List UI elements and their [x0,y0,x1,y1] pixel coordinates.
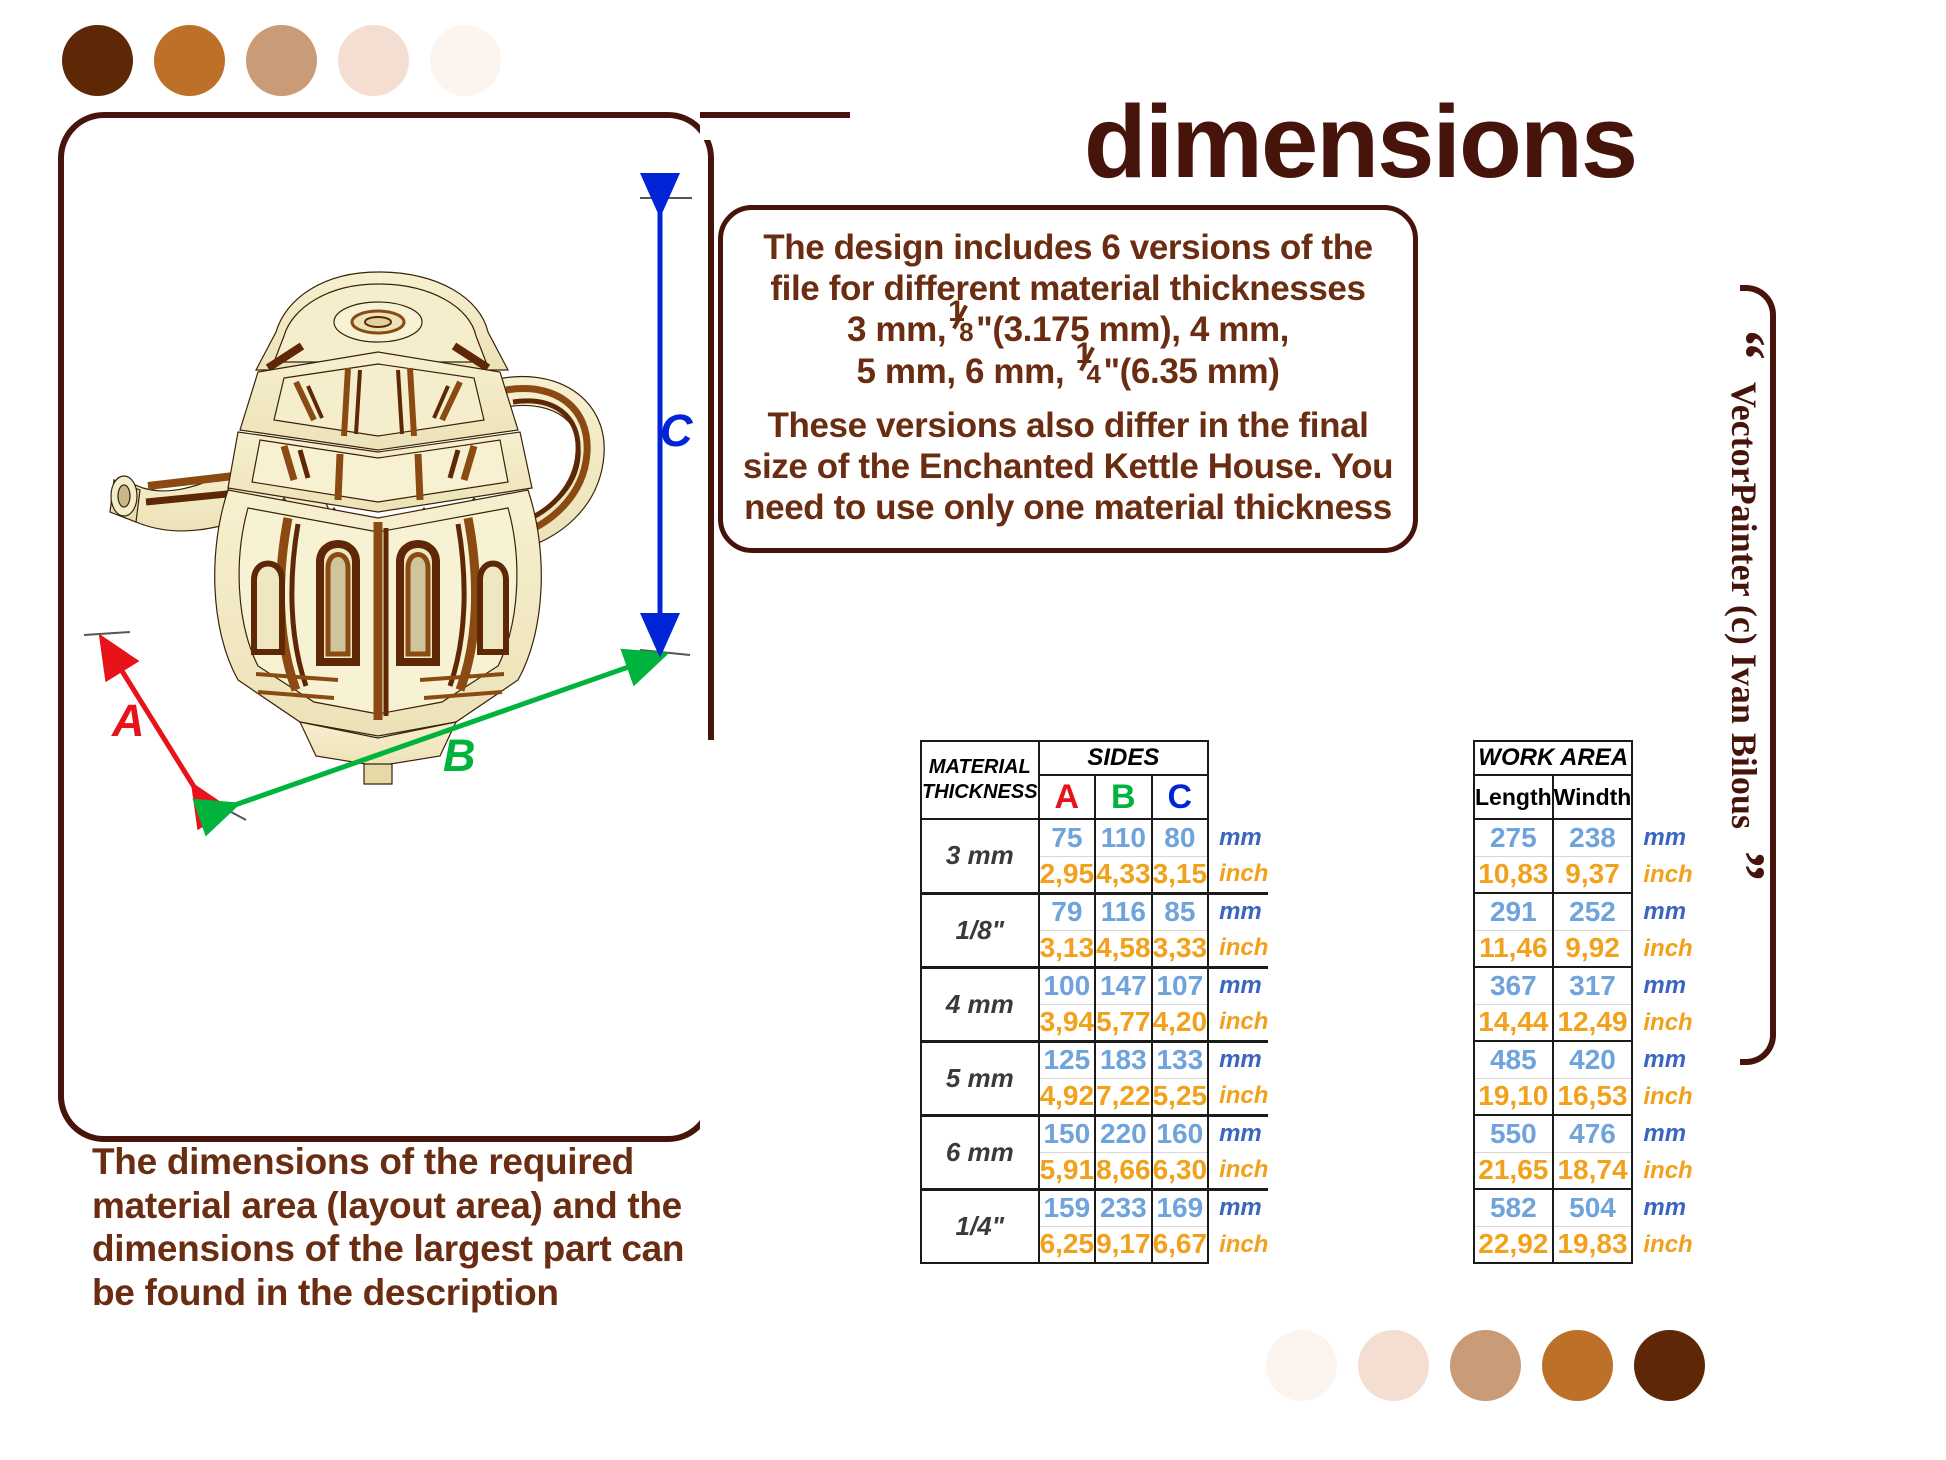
cell-side-inch: 4,58 [1095,930,1152,967]
info-box: The design includes 6 versions of the fi… [718,205,1418,553]
cell-work-inch: 21,65 [1474,1152,1553,1189]
unit-label-inch: inch [1632,1078,1693,1115]
unit-label-mm: mm [1208,967,1268,1004]
cell-side-inch: 5,77 [1095,1004,1152,1041]
unit-label-mm: mm [1632,819,1693,856]
fraction-one-eighth: 18 [946,309,976,343]
work-area-table: WORK AREA Length Windth 275238mm10,839,3… [1473,740,1695,1264]
table-row: 14,4412,49inch [1474,1004,1694,1041]
cell-work-inch: 18,74 [1553,1152,1633,1189]
cell-side-inch: 6,25 [1039,1226,1096,1263]
header-side-b: B [1095,775,1152,819]
cell-work-mm: 291 [1474,893,1553,930]
unit-label-mm: mm [1632,1115,1693,1152]
cell-side-inch: 6,30 [1152,1152,1209,1189]
table-row: 291252mm [1474,893,1694,930]
info-paragraph-sizes: These versions also differ in the final … [737,406,1399,528]
page-title: dimensions [930,90,1790,193]
header-sides: SIDES [1039,741,1209,775]
table-row: 5 mm125183133mm [921,1041,1268,1078]
table-row: 4 mm100147107mm [921,967,1268,1004]
color-swatch [154,25,225,96]
unit-label-inch: inch [1208,1152,1268,1189]
unit-label-mm: mm [1632,967,1693,1004]
color-swatch [246,25,317,96]
dimension-label-a: A [112,695,145,747]
cell-side-mm: 220 [1095,1115,1152,1152]
cell-work-mm: 252 [1553,893,1633,930]
palette-swatches-bottom [1266,1330,1705,1401]
cell-side-mm: 79 [1039,893,1096,930]
color-swatch [338,25,409,96]
cell-side-inch: 4,92 [1039,1078,1096,1115]
cell-side-inch: 8,66 [1095,1152,1152,1189]
cell-work-mm: 582 [1474,1189,1553,1226]
cell-work-mm: 238 [1553,819,1633,856]
color-swatch [1450,1330,1521,1401]
cell-side-inch: 3,13 [1039,930,1096,967]
copyright-text: VectorPainter (c) Ivan Bilous [1723,382,1765,829]
unit-label-inch: inch [1208,856,1268,893]
quote-open-icon: “ [1726,330,1762,360]
info-line-6: size of the Enchanted Kettle House. You [737,447,1399,488]
header-material-line1: MATERIAL [922,755,1038,780]
cell-work-inch: 12,49 [1553,1004,1633,1041]
table-row: 550476mm [1474,1115,1694,1152]
cell-work-inch: 9,37 [1553,856,1633,893]
fraction-denominator: 4 [1086,359,1100,389]
cell-material-thickness: 5 mm [921,1041,1039,1115]
unit-label-mm: mm [1208,893,1268,930]
frame-gap-right [700,740,730,1142]
cell-side-inch: 2,95 [1039,856,1096,893]
cell-side-inch: 3,33 [1152,930,1209,967]
table-row: 582504mm [1474,1189,1694,1226]
table-row: 10,839,37inch [1474,856,1694,893]
color-swatch [1542,1330,1613,1401]
header-length: Length [1474,775,1553,819]
color-swatch [1358,1330,1429,1401]
cell-side-inch: 5,91 [1039,1152,1096,1189]
info-line-7: need to use only one material thickness [737,488,1399,529]
info-line-4-suffix: "(6.35 mm) [1103,352,1279,391]
cell-work-mm: 420 [1553,1041,1633,1078]
cell-work-mm: 367 [1474,967,1553,1004]
table-row: 1/8"7911685mm [921,893,1268,930]
unit-label-mm: mm [1632,1041,1693,1078]
header-material-line2: THICKNESS [922,780,1038,805]
table-row: 21,6518,74inch [1474,1152,1694,1189]
cell-side-mm: 116 [1095,893,1152,930]
unit-label-inch: inch [1632,856,1693,893]
unit-label-inch: inch [1208,1078,1268,1115]
table-row: 275238mm [1474,819,1694,856]
table-row: 1/4"159233169mm [921,1189,1268,1226]
cell-work-inch: 22,92 [1474,1226,1553,1263]
palette-swatches-top [62,25,501,96]
color-swatch [62,25,133,96]
table-row: 11,469,92inch [1474,930,1694,967]
kettle-house-illustration [88,250,668,810]
cell-work-inch: 9,92 [1553,930,1633,967]
cell-side-inch: 9,17 [1095,1226,1152,1263]
cell-work-mm: 550 [1474,1115,1553,1152]
cell-side-mm: 107 [1152,967,1209,1004]
unit-label-inch: inch [1208,1226,1268,1263]
cell-work-inch: 14,44 [1474,1004,1553,1041]
table-row: 22,9219,83inch [1474,1226,1694,1263]
info-line-5: These versions also differ in the final [737,406,1399,447]
cell-material-thickness: 1/4" [921,1189,1039,1263]
cell-side-mm: 125 [1039,1041,1096,1078]
unit-label-mm: mm [1632,893,1693,930]
unit-label-inch: inch [1208,930,1268,967]
table-row: 367317mm [1474,967,1694,1004]
cell-side-mm: 183 [1095,1041,1152,1078]
cell-side-mm: 233 [1095,1189,1152,1226]
color-swatch [1634,1330,1705,1401]
copyright-credit: “ VectorPainter (c) Ivan Bilous ” [1714,330,1774,1030]
cell-side-inch: 4,33 [1095,856,1152,893]
unit-label-mm: mm [1208,819,1268,856]
cell-side-mm: 160 [1152,1115,1209,1152]
sides-table: MATERIAL THICKNESS SIDES A B C 3 mm75110… [920,740,1268,1264]
unit-label-inch: inch [1208,1004,1268,1041]
info-line-1: The design includes 6 versions of the [737,228,1399,269]
info-paragraph-thicknesses: The design includes 6 versions of the fi… [737,228,1399,392]
unit-label-mm: mm [1632,1189,1693,1226]
header-work-area: WORK AREA [1474,741,1632,775]
cell-side-mm: 147 [1095,967,1152,1004]
fraction-denominator: 8 [959,317,973,347]
frame-gap-top [700,100,940,140]
header-side-c: C [1152,775,1209,819]
cell-work-mm: 317 [1553,967,1633,1004]
cell-material-thickness: 3 mm [921,819,1039,893]
cell-side-mm: 110 [1095,819,1152,856]
cell-side-inch: 6,67 [1152,1226,1209,1263]
cell-work-mm: 476 [1553,1115,1633,1152]
unit-label-mm: mm [1208,1115,1268,1152]
cell-side-mm: 159 [1039,1189,1096,1226]
dimension-label-b: B [443,730,476,782]
color-swatch [430,25,501,96]
cell-work-inch: 19,10 [1474,1078,1553,1115]
cell-side-mm: 100 [1039,967,1096,1004]
cell-side-mm: 169 [1152,1189,1209,1226]
quote-close-icon: ” [1726,851,1762,881]
cell-side-inch: 3,15 [1152,856,1209,893]
info-line-3-suffix: "(3.175 mm), 4 mm, [976,310,1289,349]
cell-side-mm: 150 [1039,1115,1096,1152]
cell-material-thickness: 6 mm [921,1115,1039,1189]
info-line-3-prefix: 3 mm, [847,310,946,349]
cell-work-inch: 11,46 [1474,930,1553,967]
cell-work-inch: 19,83 [1553,1226,1633,1263]
cell-material-thickness: 4 mm [921,967,1039,1041]
unit-label-mm: mm [1208,1189,1268,1226]
cell-side-inch: 5,25 [1152,1078,1209,1115]
info-line-2: file for different material thicknesses [737,269,1399,310]
dimension-label-c: C [660,405,693,457]
unit-label-inch: inch [1632,1226,1693,1263]
info-line-4-prefix: 5 mm, 6 mm, [857,352,1065,391]
unit-label-inch: inch [1632,930,1693,967]
info-line-3: 3 mm,18"(3.175 mm), 4 mm, [737,309,1399,351]
cell-material-thickness: 1/8" [921,893,1039,967]
table-row: 6 mm150220160mm [921,1115,1268,1152]
color-swatch [1266,1330,1337,1401]
cell-side-mm: 85 [1152,893,1209,930]
table-row: 3 mm7511080mm [921,819,1268,856]
info-line-4: 5 mm, 6 mm, 14"(6.35 mm) [737,351,1399,393]
table-row: 485420mm [1474,1041,1694,1078]
cell-work-mm: 504 [1553,1189,1633,1226]
cell-side-inch: 3,94 [1039,1004,1096,1041]
fraction-one-quarter: 14 [1073,351,1103,385]
cell-work-mm: 275 [1474,819,1553,856]
cell-work-inch: 10,83 [1474,856,1553,893]
header-side-a: A [1039,775,1096,819]
cell-work-inch: 16,53 [1553,1078,1633,1115]
cell-side-mm: 75 [1039,819,1096,856]
unit-label-inch: inch [1632,1152,1693,1189]
header-width: Windth [1553,775,1633,819]
cell-side-mm: 133 [1152,1041,1209,1078]
frame-top-line [700,112,850,118]
cell-side-inch: 7,22 [1095,1078,1152,1115]
cell-side-mm: 80 [1152,819,1209,856]
header-material-thickness: MATERIAL THICKNESS [921,741,1039,819]
cell-work-mm: 485 [1474,1041,1553,1078]
poster-canvas: dimensions [0,0,1946,1460]
description-note: The dimensions of the required material … [92,1140,732,1315]
cell-side-inch: 4,20 [1152,1004,1209,1041]
unit-label-mm: mm [1208,1041,1268,1078]
unit-label-inch: inch [1632,1004,1693,1041]
table-row: 19,1016,53inch [1474,1078,1694,1115]
